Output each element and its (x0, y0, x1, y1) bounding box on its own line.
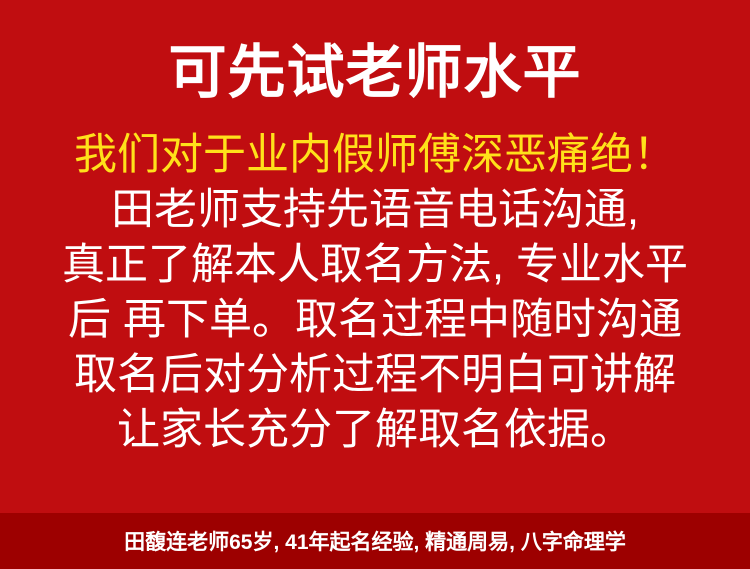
headline-container: 可先试老师水平 (0, 0, 750, 102)
footer-banner: 田馥连老师65岁, 41年起名经验, 精通周易, 八字命理学 (0, 513, 750, 569)
body-line-4: 后 再下单。取名过程中随时沟通 (18, 293, 732, 348)
body-line-6: 让家长充分了解取名依据。 (18, 403, 732, 458)
promo-poster: 可先试老师水平 我们对于业内假师傅深恶痛绝！ 田老师支持先语音电话沟通, 真正了… (0, 0, 750, 569)
body-line-5: 取名后对分析过程不明白可讲解 (18, 348, 732, 403)
page-title: 可先试老师水平 (0, 44, 750, 102)
footer-credentials: 田馥连老师65岁, 41年起名经验, 精通周易, 八字命理学 (124, 526, 626, 556)
body-line-2: 田老师支持先语音电话沟通, (18, 183, 732, 238)
body-line-3: 真正了解本人取名方法, 专业水平 (18, 238, 732, 293)
body-line-1: 我们对于业内假师傅深恶痛绝！ (18, 128, 732, 183)
body-text-block: 我们对于业内假师傅深恶痛绝！ 田老师支持先语音电话沟通, 真正了解本人取名方法,… (0, 128, 750, 458)
